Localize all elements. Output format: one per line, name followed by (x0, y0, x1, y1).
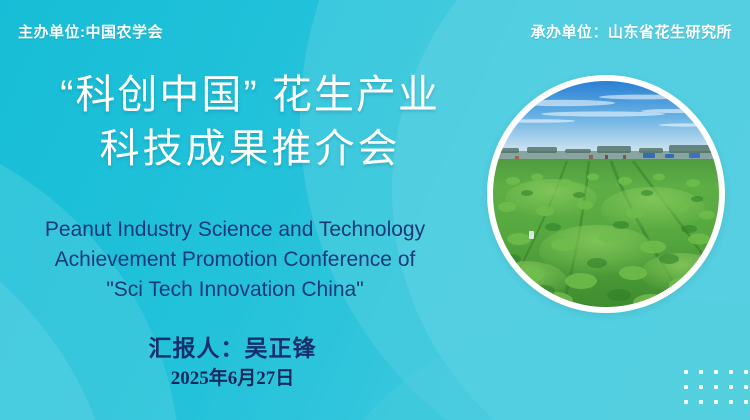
conference-title-slide: 主办单位:中国农学会 承办单位：山东省花生研究所 (0, 0, 750, 420)
host-label: 承办单位：山东省花生研究所 (530, 21, 732, 42)
date-label: 2025年6月27日 (0, 364, 465, 394)
dot (714, 400, 718, 404)
main-title-line-2: 科技成果推介会 (0, 122, 500, 176)
dot (729, 385, 733, 389)
english-subtitle-line-1: Peanut Industry Science and Technology (0, 215, 470, 245)
dot (744, 385, 748, 389)
dot (699, 400, 703, 404)
english-subtitle: Peanut Industry Science and Technology A… (0, 215, 470, 305)
dot (744, 370, 748, 374)
main-title: “科创中国” 花生产业 科技成果推介会 (0, 68, 500, 176)
header-bar: 主办单位:中国农学会 承办单位：山东省花生研究所 (0, 18, 750, 44)
speaker-block: 汇报人：吴正锋 2025年6月27日 (0, 332, 465, 394)
presenter-label: 汇报人：吴正锋 (0, 332, 465, 364)
english-subtitle-line-3: "Sci Tech Innovation China" (0, 275, 470, 305)
dot (729, 370, 733, 374)
organizer-label: 主办单位:中国农学会 (18, 21, 163, 42)
dot (684, 370, 688, 374)
dot-grid-decoration (684, 370, 750, 415)
english-subtitle-line-2: Achievement Promotion Conference of (0, 245, 470, 275)
peanut-field-photo (493, 81, 719, 307)
dot (744, 400, 748, 404)
dot (684, 385, 688, 389)
dot (699, 370, 703, 374)
photo-ring (487, 75, 725, 313)
dot (699, 385, 703, 389)
dot (684, 400, 688, 404)
dot (714, 370, 718, 374)
main-title-line-1: “科创中国” 花生产业 (0, 68, 500, 122)
dot (729, 400, 733, 404)
dot (714, 385, 718, 389)
